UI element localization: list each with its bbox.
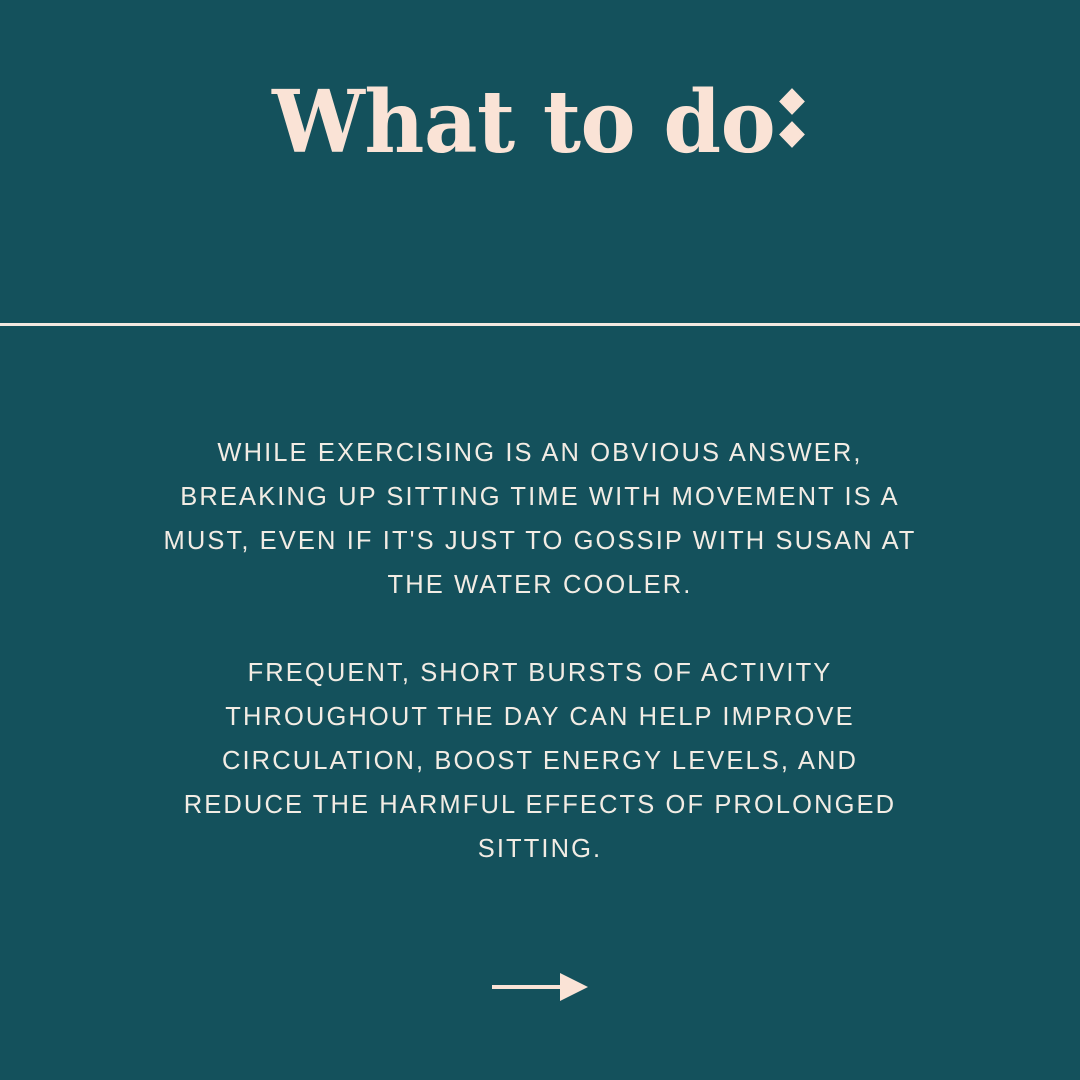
header-section: What to do	[0, 0, 1080, 323]
paragraph-1: While exercising is an obvious answer, b…	[160, 431, 920, 607]
page-title-text: What to do	[272, 72, 775, 173]
diamond-colon-icon	[779, 78, 808, 152]
paragraph-2: Frequent, short bursts of activity throu…	[160, 651, 920, 871]
arrow-right-icon	[492, 970, 588, 1004]
page-title: What to do	[272, 78, 808, 168]
copy-block: While exercising is an obvious answer, b…	[160, 431, 920, 871]
slide-root: What to do While exercising is an obviou…	[0, 0, 1080, 1080]
next-arrow-button[interactable]	[0, 970, 1080, 1004]
body-section: While exercising is an obvious answer, b…	[0, 326, 1080, 1080]
